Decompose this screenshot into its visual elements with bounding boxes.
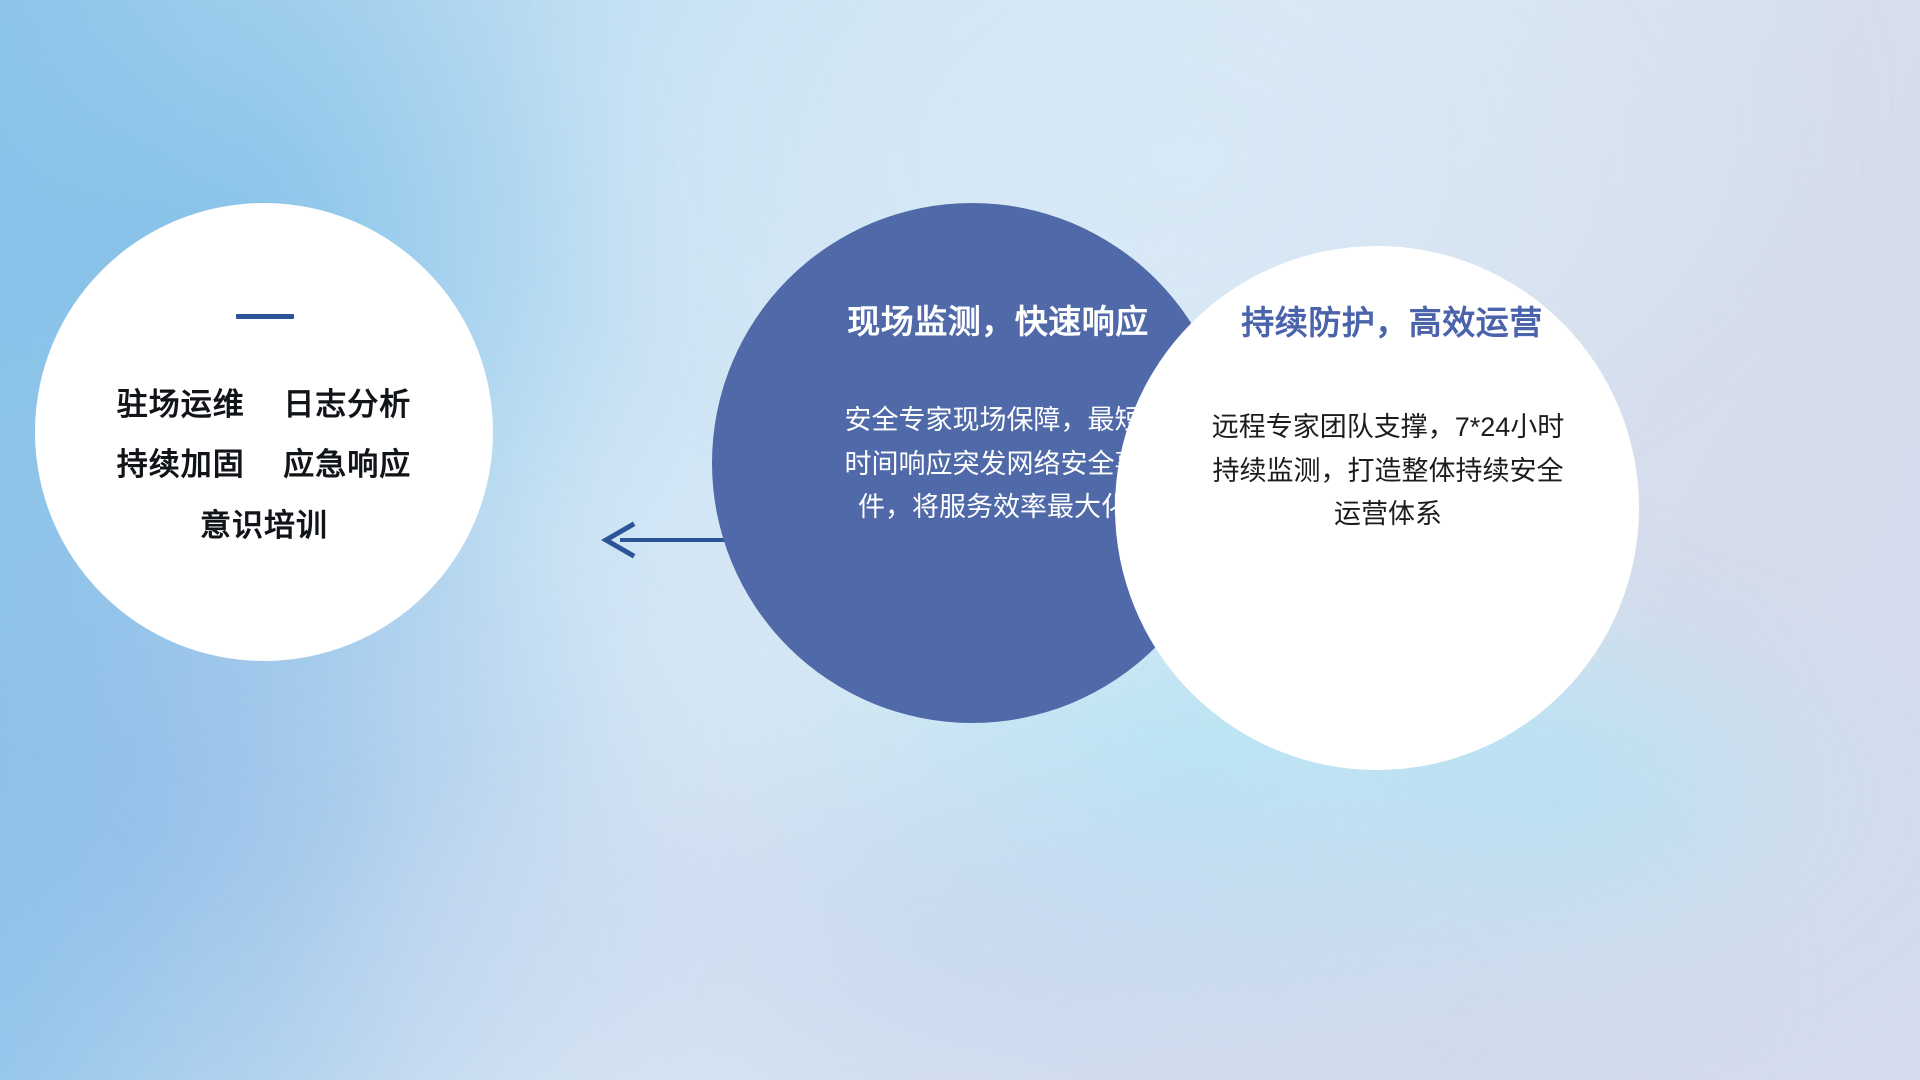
slide-canvas: 驻场运维 日志分析 持续加固 应急响应 意识培训 现场监测，快速响应 安全专家现… (0, 0, 1920, 1080)
right-circle-title: 持续防护，高效运营 (1241, 296, 1543, 344)
left-keywords-circle: 驻场运维 日志分析 持续加固 应急响应 意识培训 (35, 203, 493, 661)
blue-circle-body: 安全专家现场保障，最短时间响应突发网络安全事件，将服务效率最大化 (843, 399, 1143, 530)
left-keywords-list: 驻场运维 日志分析 持续加固 应急响应 意识培训 (117, 375, 411, 556)
list-item: 持续加固 应急响应 (117, 435, 411, 495)
left-circle-content: 驻场运维 日志分析 持续加固 应急响应 意识培训 (35, 203, 493, 661)
accent-dash (236, 314, 294, 319)
right-circle-body: 远程专家团队支撑，7*24小时持续监测，打造整体持续安全运营体系 (1204, 406, 1572, 537)
list-item: 意识培训 (117, 496, 411, 556)
blue-circle-title: 现场监测，快速响应 (847, 295, 1149, 343)
right-circle-content: 持续防护，高效运营 远程专家团队支撑，7*24小时持续监测，打造整体持续安全运营… (1115, 246, 1639, 770)
continuous-protection-circle: 持续防护，高效运营 远程专家团队支撑，7*24小时持续监测，打造整体持续安全运营… (1115, 246, 1639, 770)
list-item: 驻场运维 日志分析 (117, 375, 411, 435)
